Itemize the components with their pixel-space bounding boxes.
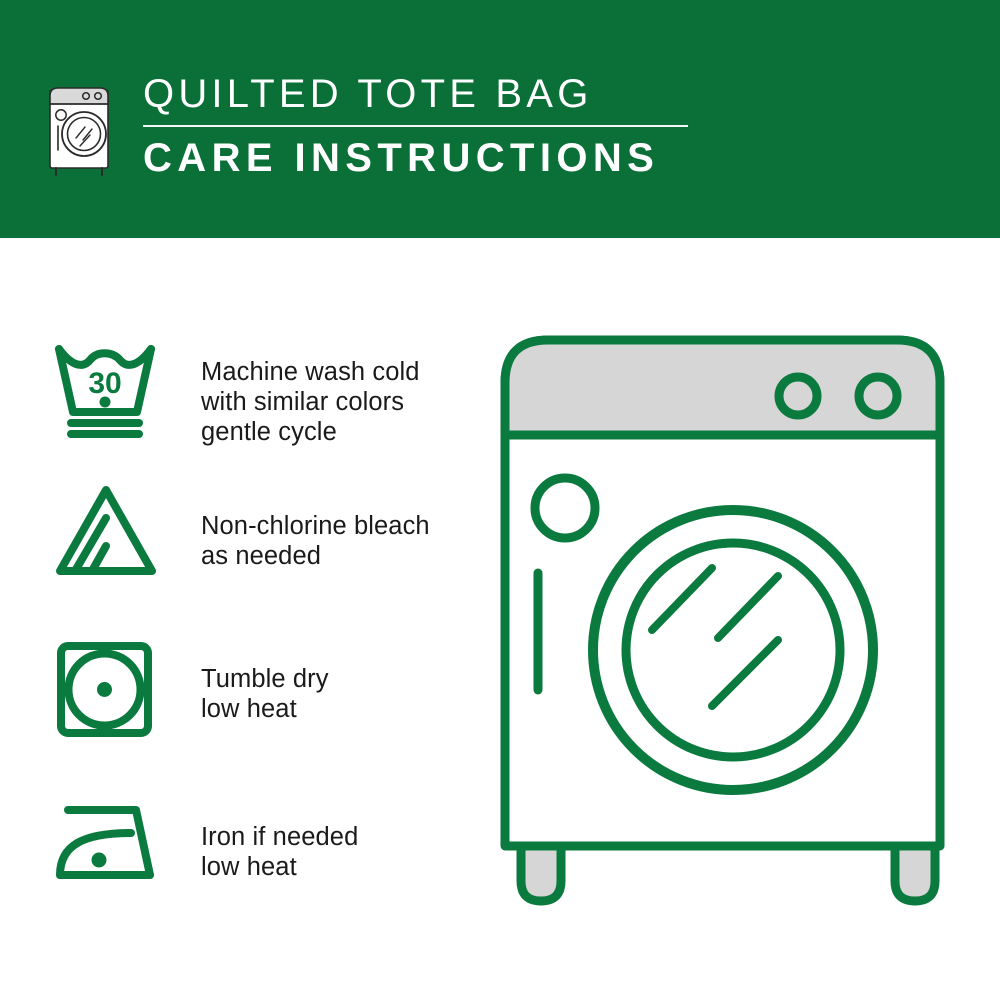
care-row-machine-wash: 30 Machine wash cold with similar colors… [52, 338, 420, 447]
wash-tub-30-icon: 30 [52, 336, 160, 444]
page-subtitle: CARE INSTRUCTIONS [143, 131, 763, 185]
page-title: QUILTED TOTE BAG [143, 68, 763, 120]
care-label-tumble-dry: Tumble dry low heat [201, 664, 329, 724]
care-row-tumble-dry: Tumble dry low heat [52, 633, 329, 741]
care-label-bleach: Non-chlorine bleach as needed [201, 511, 430, 571]
leg-right [895, 843, 935, 901]
care-instructions-infographic: QUILTED TOTE BAG CARE INSTRUCTIONS [0, 0, 1000, 1000]
content-area: 30 Machine wash cold with similar colors… [0, 238, 1000, 1000]
leg-left [521, 843, 561, 901]
wash-temperature-value: 30 [88, 367, 121, 400]
header-title-group: QUILTED TOTE BAG CARE INSTRUCTIONS [143, 68, 763, 185]
bleach-triangle-icon [52, 478, 160, 586]
care-label-iron: Iron if needed low heat [201, 822, 358, 882]
care-symbol-list: 30 Machine wash cold with similar colors… [0, 238, 500, 1000]
header-banner: QUILTED TOTE BAG CARE INSTRUCTIONS [0, 0, 1000, 238]
tumble-dry-low-icon [52, 633, 160, 741]
iron-low-heat-icon [52, 792, 160, 900]
washing-machine-illustration [490, 328, 980, 938]
washing-machine-icon [44, 70, 120, 180]
title-divider [143, 125, 688, 127]
care-row-bleach: Non-chlorine bleach as needed [52, 478, 430, 586]
care-row-iron: Iron if needed low heat [52, 786, 358, 900]
care-label-machine-wash: Machine wash cold with similar colors ge… [201, 357, 420, 447]
